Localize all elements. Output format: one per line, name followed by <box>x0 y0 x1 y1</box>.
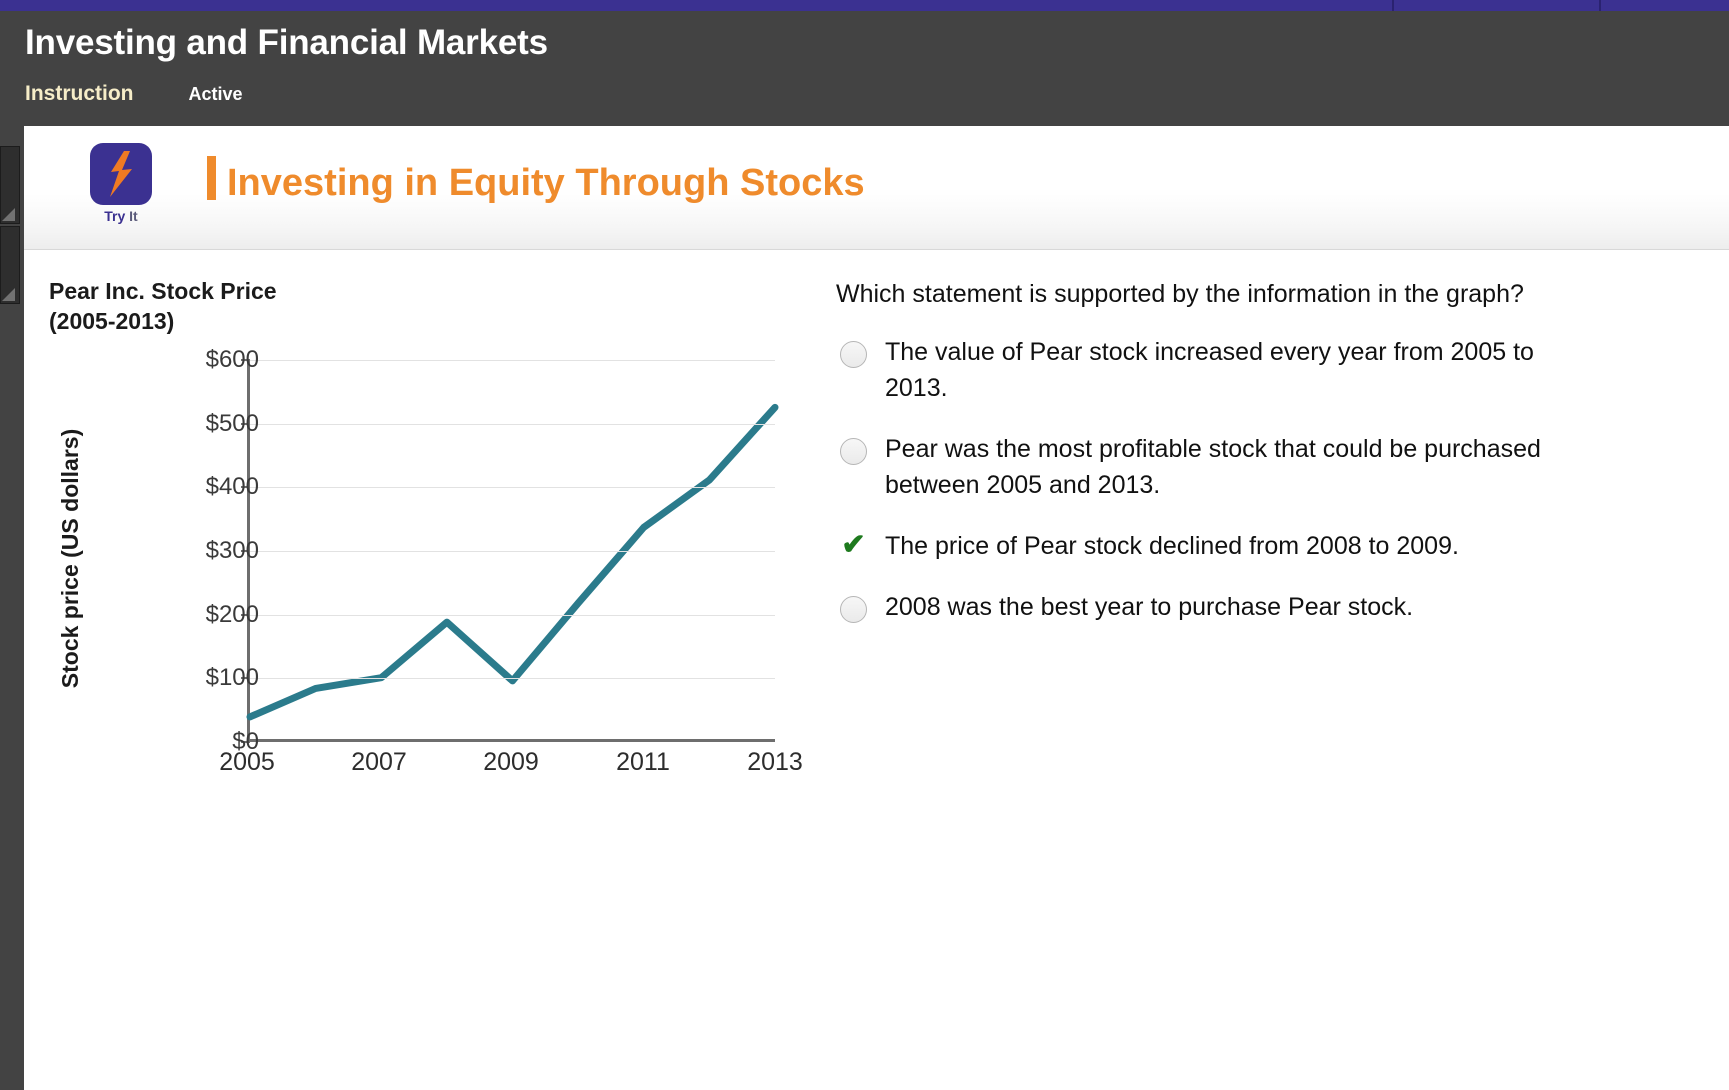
question-column: Which statement is supported by the info… <box>836 276 1596 650</box>
chart-title-line2: (2005-2013) <box>49 306 809 336</box>
radio-unselected-icon[interactable] <box>840 341 867 368</box>
plot-area-wrapper: $600$500$400$300$200$100$020052007200920… <box>89 350 789 810</box>
x-axis-tick-label: 2011 <box>616 748 670 777</box>
answer-choice-4[interactable]: 2008 was the best year to purchase Pear … <box>836 589 1596 625</box>
y-axis-tick-label: $600 <box>139 346 259 374</box>
grid-line <box>250 487 775 488</box>
y-axis-label: Stock price (US dollars) <box>53 358 89 758</box>
plot-area <box>247 360 775 742</box>
lesson-body: Pear Inc. Stock Price (2005-2013) Stock … <box>24 250 1729 1090</box>
answer-choice-3[interactable]: ✔The price of Pear stock declined from 2… <box>836 528 1596 564</box>
left-rail <box>0 126 24 1090</box>
answer-choice-label: The value of Pear stock increased every … <box>885 334 1585 406</box>
series-line <box>250 407 775 717</box>
lesson-banner: Try It Investing in Equity Through Stock… <box>24 126 1729 250</box>
y-axis-tick-label: $100 <box>139 664 259 692</box>
y-axis-tick-label: $200 <box>139 601 259 629</box>
page-title: Investing and Financial Markets <box>25 23 548 63</box>
grid-line <box>250 424 775 425</box>
y-axis-tick-label: $300 <box>139 537 259 565</box>
rail-panel-top[interactable] <box>0 146 20 224</box>
app-root: Investing and Financial Markets Instruct… <box>0 0 1729 1090</box>
lesson-title: Investing in Equity Through Stocks <box>227 162 865 205</box>
try-it-tile <box>90 143 152 205</box>
green-checkmark-icon: ✔ <box>840 532 867 559</box>
stock-price-line-chart: Stock price (US dollars) $600$500$400$30… <box>49 350 789 810</box>
answer-choice-label: 2008 was the best year to purchase Pear … <box>885 589 1413 625</box>
y-axis-tick-label: $400 <box>139 473 259 501</box>
grid-line <box>250 678 775 679</box>
question-prompt: Which statement is supported by the info… <box>836 276 1554 312</box>
grid-line <box>250 551 775 552</box>
status-badge-active: Active <box>189 84 243 105</box>
answer-choice-2[interactable]: Pear was the most profitable stock that … <box>836 431 1596 503</box>
try-it-caption: Try It <box>88 208 154 224</box>
radio-unselected-icon[interactable] <box>840 596 867 623</box>
top-strip-divider-1 <box>1392 0 1394 11</box>
try-it-badge: Try It <box>88 143 154 224</box>
rail-panel-bottom[interactable] <box>0 226 20 304</box>
grid-line <box>250 615 775 616</box>
answer-choice-1[interactable]: The value of Pear stock increased every … <box>836 334 1596 406</box>
x-axis-tick-label: 2007 <box>351 748 407 777</box>
radio-unselected-icon[interactable] <box>840 438 867 465</box>
line-series-pear-inc <box>250 360 775 739</box>
rail-triangle-icon <box>2 208 15 221</box>
chart-column: Pear Inc. Stock Price (2005-2013) Stock … <box>49 276 809 810</box>
orange-accent-bar <box>207 156 216 200</box>
lesson-content: Try It Investing in Equity Through Stock… <box>24 126 1729 1090</box>
breadcrumb-item-instruction[interactable]: Instruction <box>25 82 134 106</box>
chart-title-line1: Pear Inc. Stock Price <box>49 278 277 304</box>
try-it-caption-primary: Try <box>104 208 125 224</box>
x-axis-tick-label: 2013 <box>747 748 803 777</box>
breadcrumb: Instruction Active <box>25 82 243 106</box>
x-axis-tick-label: 2005 <box>219 748 275 777</box>
answer-choice-list: The value of Pear stock increased every … <box>836 334 1596 625</box>
y-axis-tick-label: $500 <box>139 410 259 438</box>
try-it-caption-secondary: It <box>129 208 138 224</box>
chart-title: Pear Inc. Stock Price (2005-2013) <box>49 276 809 336</box>
top-strip-divider-2 <box>1599 0 1601 11</box>
x-axis-tick-label: 2009 <box>483 748 539 777</box>
app-header: Investing and Financial Markets Instruct… <box>0 11 1729 126</box>
answer-choice-label: The price of Pear stock declined from 20… <box>885 528 1459 564</box>
rail-triangle-icon <box>2 288 15 301</box>
browser-top-strip <box>0 0 1729 11</box>
grid-line <box>250 360 775 361</box>
answer-choice-label: Pear was the most profitable stock that … <box>885 431 1585 503</box>
